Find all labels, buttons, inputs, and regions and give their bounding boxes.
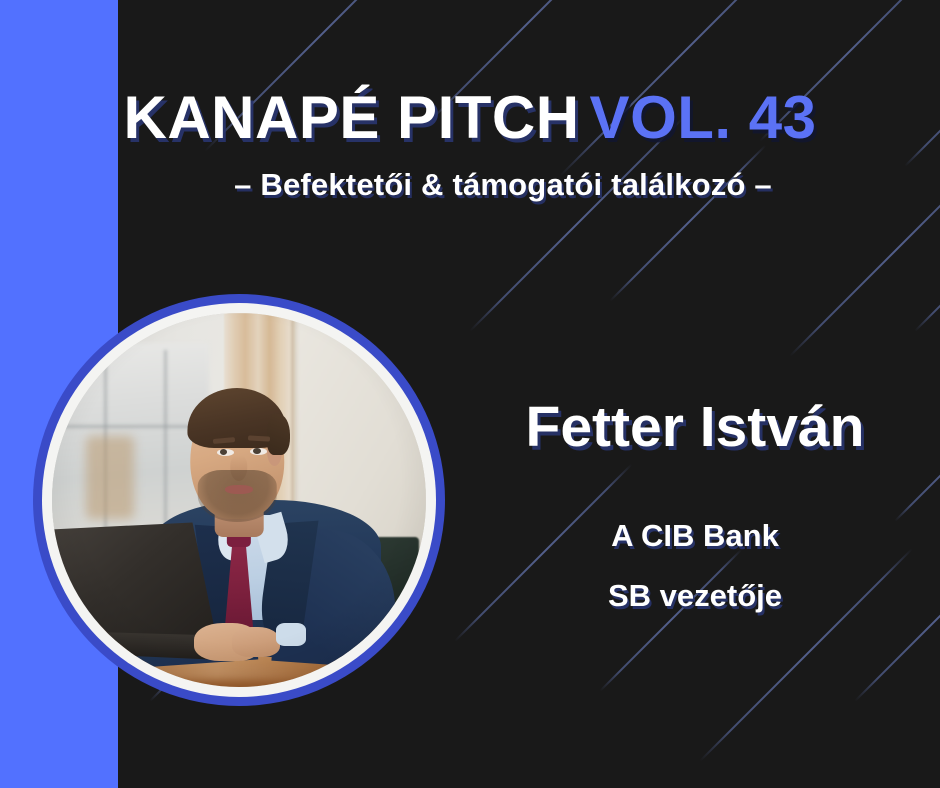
photo-vignette [52, 313, 426, 687]
promo-graphic-canvas: KANAPÉ PITCHVOL. 43 – Befektetői & támog… [0, 0, 940, 788]
speaker-portrait-frame [33, 294, 445, 706]
photo-scene [52, 313, 426, 687]
event-title-main: KANAPÉ PITCH [124, 84, 580, 151]
event-subtitle: – Befektetői & támogatói találkozó – [0, 167, 940, 203]
speaker-name: Fetter István [460, 398, 930, 458]
speaker-role-line-1: A CIB Bank [460, 518, 930, 554]
event-title: KANAPÉ PITCHVOL. 43 [0, 88, 940, 148]
speaker-photo [52, 313, 426, 687]
event-title-volume: VOL. 43 [590, 84, 817, 151]
speaker-role-line-2: SB vezetője [460, 578, 930, 614]
